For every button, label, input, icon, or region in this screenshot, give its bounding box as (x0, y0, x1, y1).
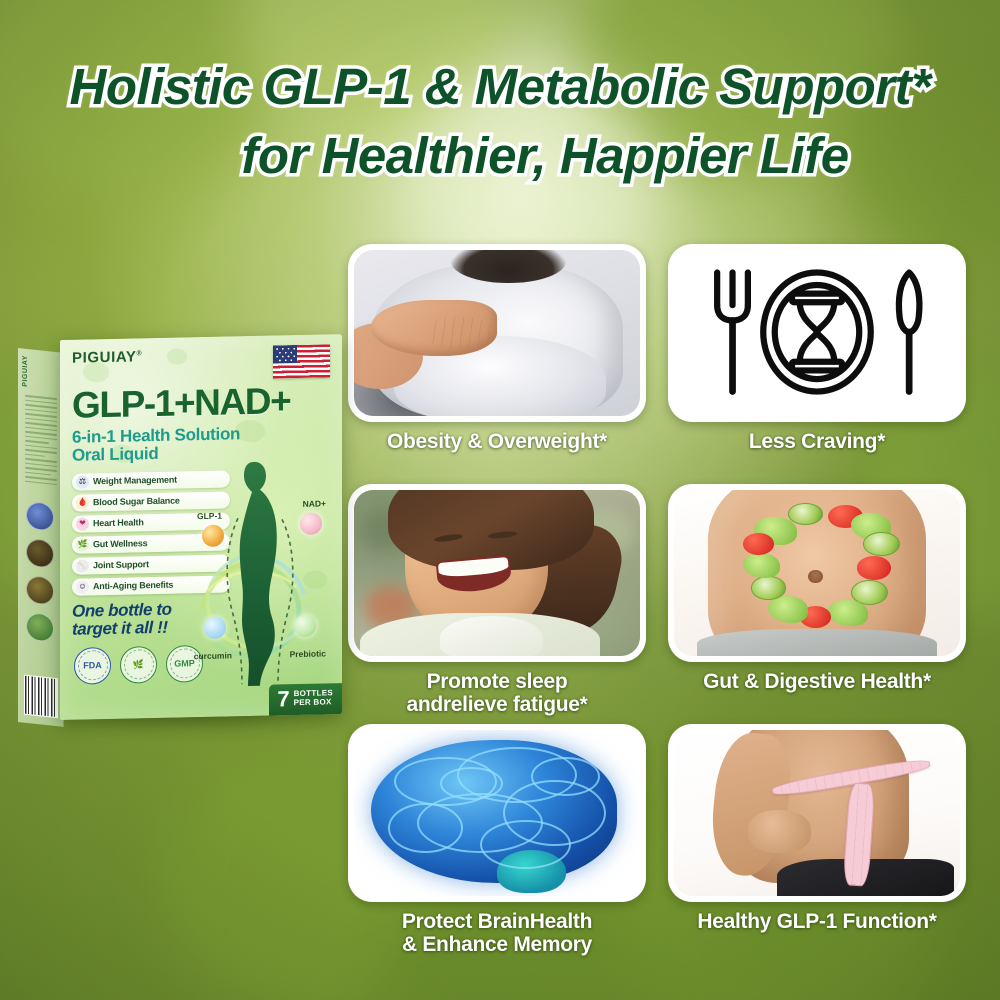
glp1-molecule-label: GLP-1 (197, 511, 222, 522)
photo-overweight-man (354, 250, 640, 416)
photo-laughing-woman (354, 490, 640, 656)
side-seal-quality-icon (26, 575, 54, 606)
curcumin-molecule-label: curcumin (194, 650, 232, 661)
brand-name: PIGUIAY® (72, 348, 142, 366)
card-promote-sleep[interactable]: Promote sleep andrelieve fatigue* (348, 484, 646, 716)
benefit-pill-label: Joint Support (93, 559, 149, 570)
side-panel-brand: PIGUIAY (22, 355, 29, 387)
product-title: GLP-1+NAD+ (72, 381, 330, 423)
us-flag-icon (273, 344, 330, 378)
card-healthy-glp1-function[interactable]: Healthy GLP-1 Function* (668, 724, 966, 933)
bottles-unit-line-2: PER BOX (294, 698, 333, 708)
side-seal-eco-icon (26, 612, 54, 643)
card-caption: Less Craving* (668, 430, 966, 453)
side-panel-text-lines (25, 395, 57, 488)
product-box-front: PIGUIAY® GLP-1+NAD+ 6-in-1 Health Soluti… (60, 334, 342, 720)
card-media (348, 484, 646, 662)
card-less-craving[interactable]: Less Craving* (668, 244, 966, 453)
icon-fork-plate-hourglass-knife (674, 250, 960, 416)
prebiotic-molecule-label: Prebiotic (290, 648, 326, 659)
joint-icon: 🦴 (76, 559, 89, 572)
card-obesity-overweight[interactable]: Obesity & Overweight* (348, 244, 646, 453)
card-caption: Healthy GLP-1 Function* (668, 910, 966, 933)
card-caption: Obesity & Overweight* (348, 430, 646, 453)
heart-icon: ❤ (76, 517, 89, 530)
card-media (668, 244, 966, 422)
barcode-icon (24, 675, 58, 719)
photo-blue-brain (354, 730, 640, 896)
product-box[interactable]: PIGUIAY (14, 332, 350, 732)
side-seal-usa-icon (26, 501, 54, 532)
card-media (668, 724, 966, 902)
cutlery-hourglass-icon (692, 261, 942, 405)
card-media (348, 244, 646, 422)
product-box-side-panel: PIGUIAY (18, 348, 64, 727)
nad-molecule-label: NAD+ (303, 498, 326, 508)
card-brain-health[interactable]: Protect BrainHealth & Enhance Memory (348, 724, 646, 956)
card-caption: Promote sleep andrelieve fatigue* (348, 670, 646, 716)
card-media (668, 484, 966, 662)
benefit-pill-label: Blood Sugar Balance (93, 496, 180, 508)
card-caption: Gut & Digestive Health* (668, 670, 966, 693)
gut-icon: 🌿 (76, 538, 89, 551)
photo-belly-vegetables (674, 490, 960, 656)
benefit-card-grid: Obesity & Overweight* (348, 244, 972, 960)
bottles-count: 7 (277, 689, 289, 709)
benefit-pill-label: Weight Management (93, 475, 177, 487)
fda-approved-seal: FDA (74, 647, 111, 685)
side-panel-seals (26, 501, 54, 652)
card-gut-digestive-health[interactable]: Gut & Digestive Health* (668, 484, 966, 693)
box-header: PIGUIAY® (72, 344, 330, 382)
scale-icon: ⚖ (76, 475, 89, 488)
card-media (348, 724, 646, 902)
benefit-pill-label: Anti-Aging Benefits (93, 580, 173, 592)
all-natural-seal: 🌿 (120, 646, 157, 684)
photo-waist-measuring-tape (674, 730, 960, 896)
card-caption: Protect BrainHealth & Enhance Memory (348, 910, 646, 956)
product-banner: Holistic GLP-1 & Metabolic Support* for … (0, 0, 1000, 1000)
bottles-unit: BOTTLES PER BOX (294, 689, 333, 708)
anti-aging-icon: ☺ (76, 580, 89, 593)
bottles-per-box-badge: 7 BOTTLES PER BOX (269, 683, 342, 715)
side-seal-gmp-icon (26, 538, 54, 569)
benefit-pill-label: Heart Health (93, 517, 144, 528)
benefit-pill-label: Gut Wellness (93, 538, 147, 549)
glucose-icon: 🩸 (76, 496, 89, 509)
brand-registered-mark: ® (137, 350, 143, 357)
brand-name-text: PIGUIAY (72, 348, 137, 366)
